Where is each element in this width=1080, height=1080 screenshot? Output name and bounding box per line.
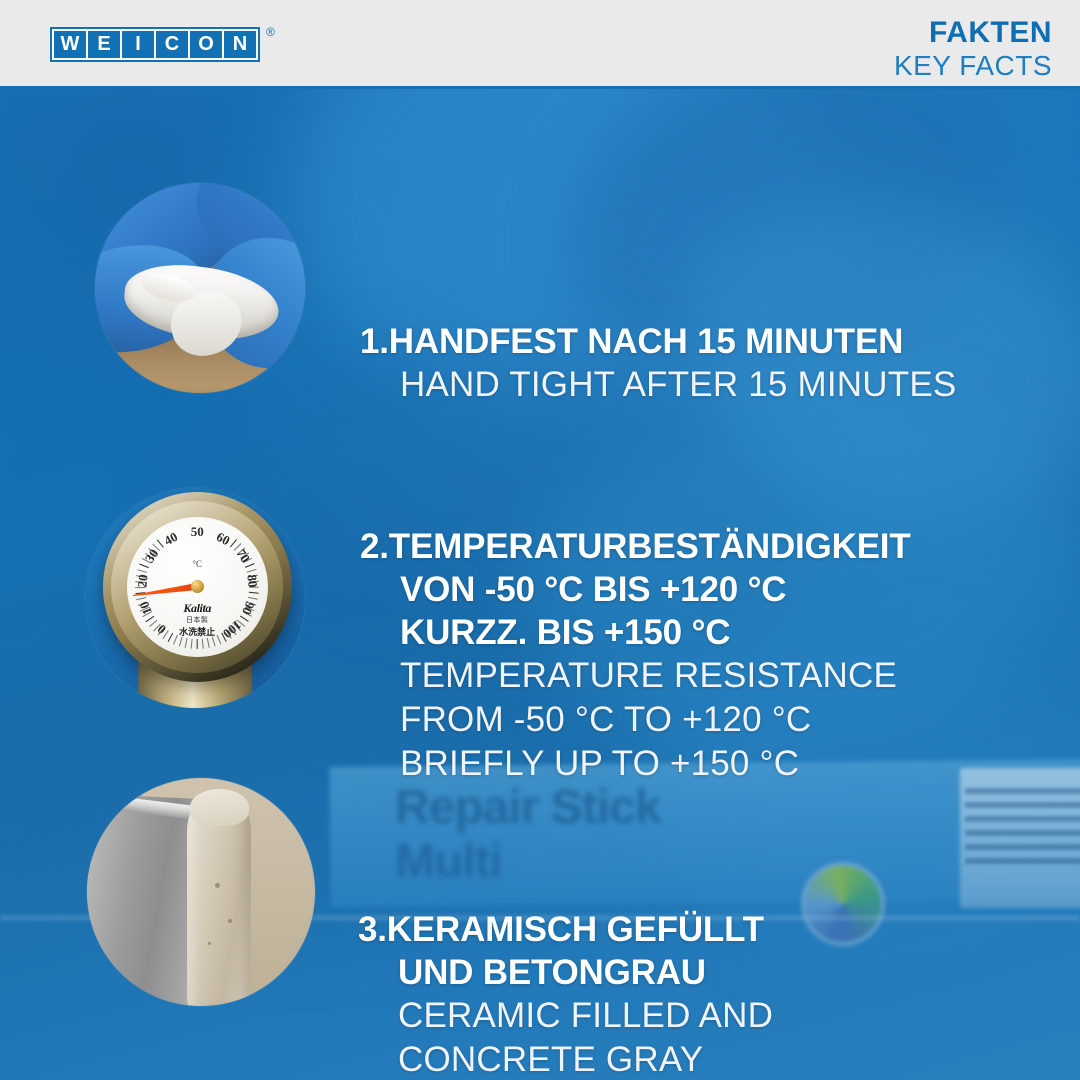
page-header: W E I C O N ® FAKTEN KEY FACTS — [0, 0, 1080, 88]
photo-thermometer-base: 0102030405060708090100 °C Kalita 日本製 水洗禁… — [85, 488, 305, 708]
thermometer-scale-number: 80 — [243, 574, 260, 589]
page-title-en: KEY FACTS — [894, 50, 1052, 82]
content-background: Repair Stick Multi — [0, 88, 1080, 1080]
background-pack-title-line1: Repair Stick — [395, 780, 660, 835]
fact-2-en-line-3: BRIEFLY UP TO +150 °C — [400, 742, 911, 786]
logo-letter-w: W — [54, 31, 86, 58]
fact-image-analog-thermometer-dial: 0102030405060708090100 °C Kalita 日本製 水洗禁… — [85, 488, 305, 708]
logo-letter-e: E — [88, 31, 120, 58]
fact-3-de-line-2: UND BETONGRAU — [358, 951, 773, 994]
photo-putty-speck — [215, 883, 220, 888]
background-pack-seal-icon — [805, 866, 881, 942]
photo-ceramic-putty-tip — [190, 789, 249, 825]
fact-2-en-line-2: FROM -50 °C TO +120 °C — [400, 698, 911, 742]
photo-putty-speck — [208, 942, 211, 945]
fact-1-number: 1. — [360, 322, 389, 361]
thermometer-brand-label: Kalita — [183, 601, 211, 616]
fact-2-en-line-1: TEMPERATURE RESISTANCE — [400, 654, 911, 698]
fact-1-text-en: HAND TIGHT AFTER 15 MINUTES — [360, 363, 956, 407]
photo-putty-base — [87, 778, 315, 1006]
fact-2-de-line-3: KURZZ. BIS +150 °C — [360, 611, 911, 654]
fact-block-1: 1.HANDFEST NACH 15 MINUTEN HAND TIGHT AF… — [360, 320, 956, 407]
fact-3-en-line-1: CERAMIC FILLED AND — [398, 994, 773, 1038]
header-title-group: FAKTEN KEY FACTS — [894, 16, 1052, 82]
thermometer-cjk-small-label: 日本製 — [186, 615, 209, 625]
thermometer-dial-face: 0102030405060708090100 °C Kalita 日本製 水洗禁… — [127, 517, 268, 658]
fact-1-en-line-1: HAND TIGHT AFTER 15 MINUTES — [400, 363, 956, 407]
photo-gloves-base — [95, 183, 305, 393]
fact-3-text-en: CERAMIC FILLED AND CONCRETE GRAY — [358, 994, 773, 1080]
fact-3-en-line-2: CONCRETE GRAY — [398, 1038, 773, 1080]
fact-3-de-line-1: KERAMISCH GEFÜLLT — [387, 910, 764, 949]
fact-2-text-en: TEMPERATURE RESISTANCE FROM -50 °C TO +1… — [360, 654, 911, 786]
fact-2-text-de: 2.TEMPERATURBESTÄNDIGKEIT VON -50 °C BIS… — [360, 525, 911, 654]
fact-1-text-de: 1.HANDFEST NACH 15 MINUTEN — [360, 320, 956, 363]
fact-image-gloved-hands-kneading-putty — [95, 183, 305, 393]
fact-1-de-line-1: HANDFEST NACH 15 MINUTEN — [389, 322, 903, 361]
thermometer-unit-label: °C — [192, 559, 202, 569]
thermometer-scale-number: 50 — [191, 524, 204, 540]
background-pack-title-line2: Multi — [395, 834, 502, 889]
background-pack-text-lines — [965, 788, 1080, 872]
fact-image-ceramic-putty-on-metal — [87, 778, 315, 1006]
thermometer-cjk-large-label: 水洗禁止 — [179, 625, 215, 638]
logo-letter-i: I — [122, 31, 154, 58]
logo-letter-o: O — [190, 31, 222, 58]
fact-2-de-line-1: TEMPERATURBESTÄNDIGKEIT — [389, 527, 911, 566]
fact-3-text-de: 3.KERAMISCH GEFÜLLT UND BETONGRAU — [358, 908, 773, 994]
fact-3-number: 3. — [358, 910, 387, 949]
weicon-logo: W E I C O N — [50, 27, 260, 62]
key-facts-page: W E I C O N ® FAKTEN KEY FACTS Repair St… — [0, 0, 1080, 1080]
fact-2-de-line-2: VON -50 °C BIS +120 °C — [360, 568, 911, 611]
fact-2-number: 2. — [360, 527, 389, 566]
logo-letter-c: C — [156, 31, 188, 58]
logo-letter-n: N — [224, 31, 256, 58]
thermometer-scale-number: 20 — [134, 574, 151, 589]
fact-block-3: 3.KERAMISCH GEFÜLLT UND BETONGRAU CERAMI… — [358, 908, 773, 1080]
photo-metal-plate — [87, 793, 201, 1006]
registered-trademark-icon: ® — [266, 26, 275, 38]
page-title-de: FAKTEN — [894, 16, 1052, 50]
fact-block-2: 2.TEMPERATURBESTÄNDIGKEIT VON -50 °C BIS… — [360, 525, 911, 786]
header-divider — [0, 86, 1080, 89]
